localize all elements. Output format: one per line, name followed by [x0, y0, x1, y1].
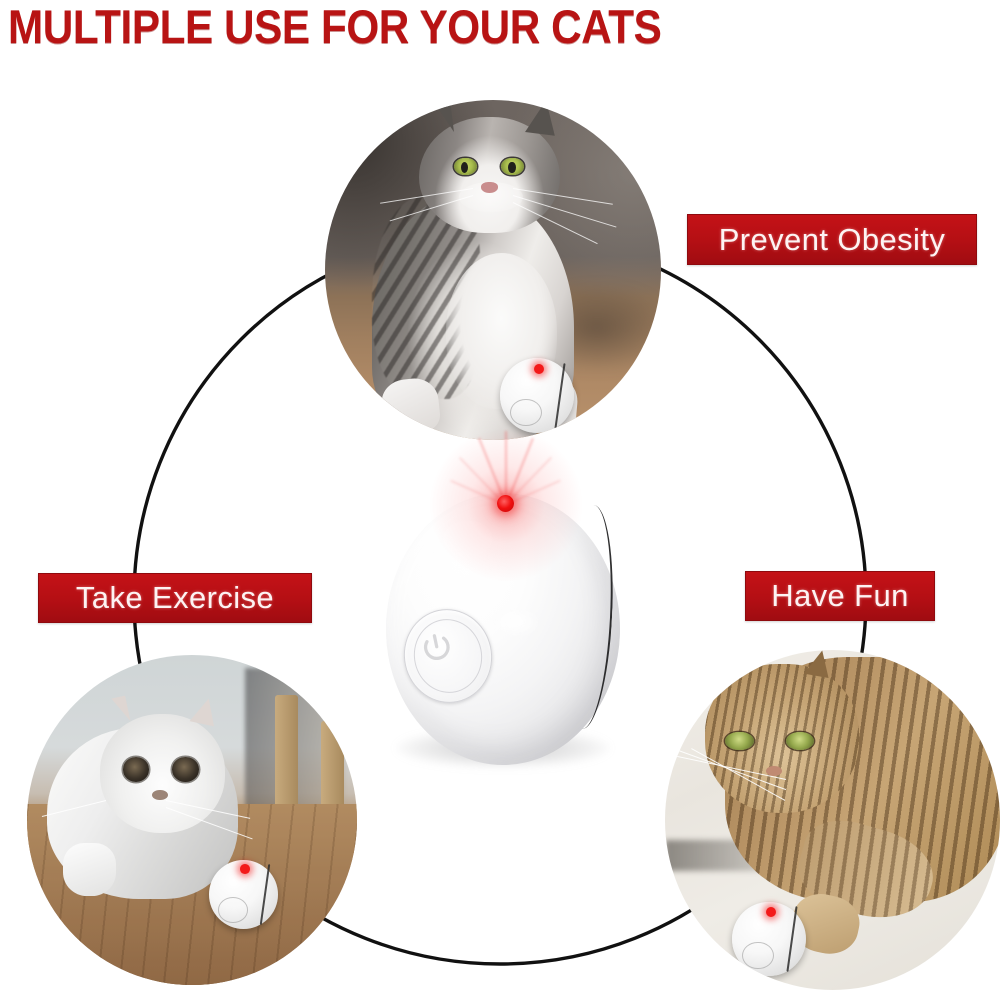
infographic-canvas: MULTIPLE USE FOR YOUR CATS — [0, 0, 1000, 1000]
photo-silver-cat-stalking — [27, 655, 357, 985]
benefit-label-have-fun[interactable]: Have Fun — [745, 571, 935, 621]
product-ball-thumbnail — [732, 902, 806, 977]
ball-highlight-secondary — [490, 605, 542, 639]
product-ball-thumbnail — [209, 860, 278, 929]
red-led-indicator — [497, 495, 514, 512]
product-ball — [378, 485, 628, 785]
benefit-label-prevent-obesity[interactable]: Prevent Obesity — [687, 214, 977, 265]
product-ball-thumbnail — [500, 358, 574, 433]
photo-chubby-tabby-cat — [325, 100, 661, 440]
benefit-label-take-exercise[interactable]: Take Exercise — [38, 573, 312, 623]
photo-brown-tabby-pawing — [665, 650, 1000, 990]
